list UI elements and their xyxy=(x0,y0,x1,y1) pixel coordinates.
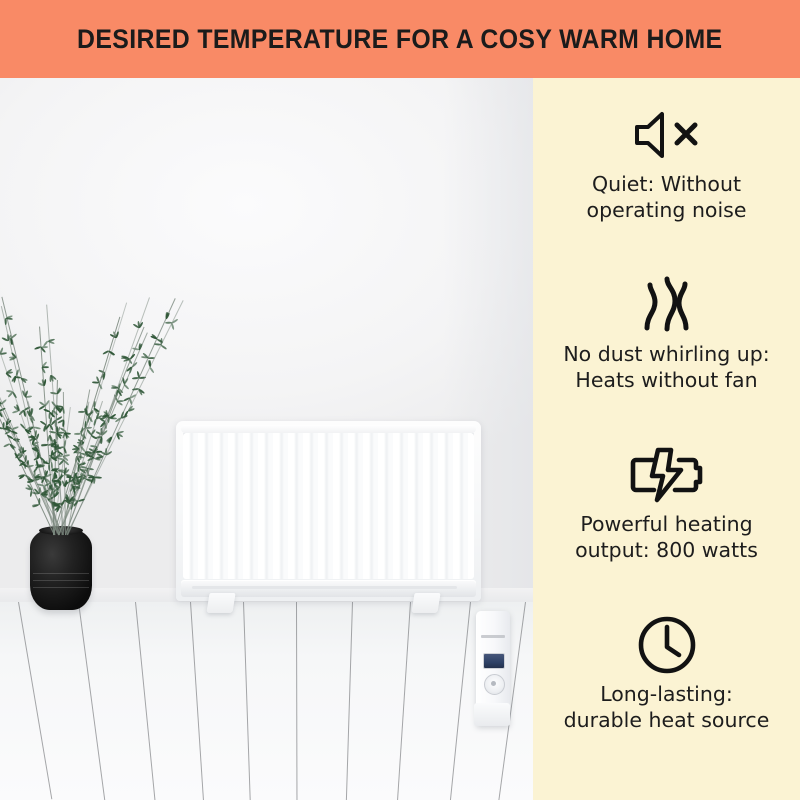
plant-leaf xyxy=(42,366,49,368)
brand-label xyxy=(481,635,505,638)
control-button-pad[interactable] xyxy=(484,674,505,695)
feature-line-1: No dust whirling up: xyxy=(563,342,769,368)
vase-ring xyxy=(33,580,89,581)
panel-heater xyxy=(176,421,481,611)
feature-text: Quiet: Without operating noise xyxy=(587,172,747,224)
floor-surface xyxy=(0,602,533,800)
bamboo-plant xyxy=(0,273,144,613)
floor-plank-seam xyxy=(190,602,204,800)
plant-leaf xyxy=(38,465,45,468)
floor-plank-seam xyxy=(296,602,297,800)
feature-line-2: durable heat source xyxy=(564,708,770,734)
lcd-display-icon xyxy=(483,653,505,669)
feature-line-2: Heats without fan xyxy=(563,368,769,394)
plant-leaf xyxy=(1,399,8,405)
floor-plank-seam xyxy=(78,602,105,800)
page-title: DESIRED TEMPERATURE FOR A COSY WARM HOME xyxy=(77,24,722,55)
heat-waves-icon xyxy=(637,274,697,336)
features-panel: Quiet: Without operating noise No dust w… xyxy=(533,78,800,800)
vase-ring xyxy=(33,587,89,588)
plant-leaf xyxy=(124,383,130,390)
floor-plank-seam xyxy=(450,602,471,800)
plant-leaf xyxy=(12,391,17,398)
feature-line-1: Long-lasting: xyxy=(564,682,770,708)
plant-leaf xyxy=(62,407,65,414)
feature-line-2: operating noise xyxy=(587,198,747,224)
feature-durable: Long-lasting: durable heat source xyxy=(533,614,800,784)
feature-text: Long-lasting: durable heat source xyxy=(564,682,770,734)
heater-fins xyxy=(183,432,474,579)
floor-plank-seam xyxy=(346,602,353,800)
plant-leaf xyxy=(39,456,45,462)
feature-text: No dust whirling up: Heats without fan xyxy=(563,342,769,394)
plant-leaf xyxy=(24,462,26,469)
plant-vase xyxy=(30,528,92,610)
product-infographic: DESIRED TEMPERATURE FOR A COSY WARM HOME xyxy=(0,0,800,800)
feature-line-2: output: 800 watts xyxy=(575,538,758,564)
plant-leaf xyxy=(78,498,85,502)
heater-control-module[interactable] xyxy=(476,611,510,726)
plant-leaf xyxy=(95,476,102,479)
floor-plank-seam xyxy=(135,602,156,800)
product-photo xyxy=(0,78,533,800)
heater-body xyxy=(176,421,481,601)
heater-foot-left xyxy=(206,593,235,613)
floor-plank-seam xyxy=(18,602,52,799)
feature-line-1: Powerful heating xyxy=(575,512,758,538)
feature-line-1: Quiet: Without xyxy=(587,172,747,198)
plant-leaf xyxy=(32,504,39,508)
heater-top-rail xyxy=(181,425,476,433)
feature-power: Powerful heating output: 800 watts xyxy=(533,444,800,614)
floor-plank-seam xyxy=(397,602,411,800)
control-module-base xyxy=(474,703,510,726)
heater-foot-right xyxy=(411,593,440,613)
speaker-mute-icon xyxy=(631,104,703,166)
header-banner: DESIRED TEMPERATURE FOR A COSY WARM HOME xyxy=(0,0,800,78)
floor-plank-seam xyxy=(243,602,251,800)
feature-quiet: Quiet: Without operating noise xyxy=(533,104,800,274)
feature-no-dust: No dust whirling up: Heats without fan xyxy=(533,274,800,444)
battery-bolt-icon xyxy=(627,444,707,506)
clock-icon xyxy=(636,614,698,676)
feature-text: Powerful heating output: 800 watts xyxy=(575,512,758,564)
heater-bottom-groove xyxy=(192,586,457,589)
vase-ring xyxy=(33,573,89,574)
plant-leaf xyxy=(6,372,13,374)
plant-leaf xyxy=(51,462,53,469)
